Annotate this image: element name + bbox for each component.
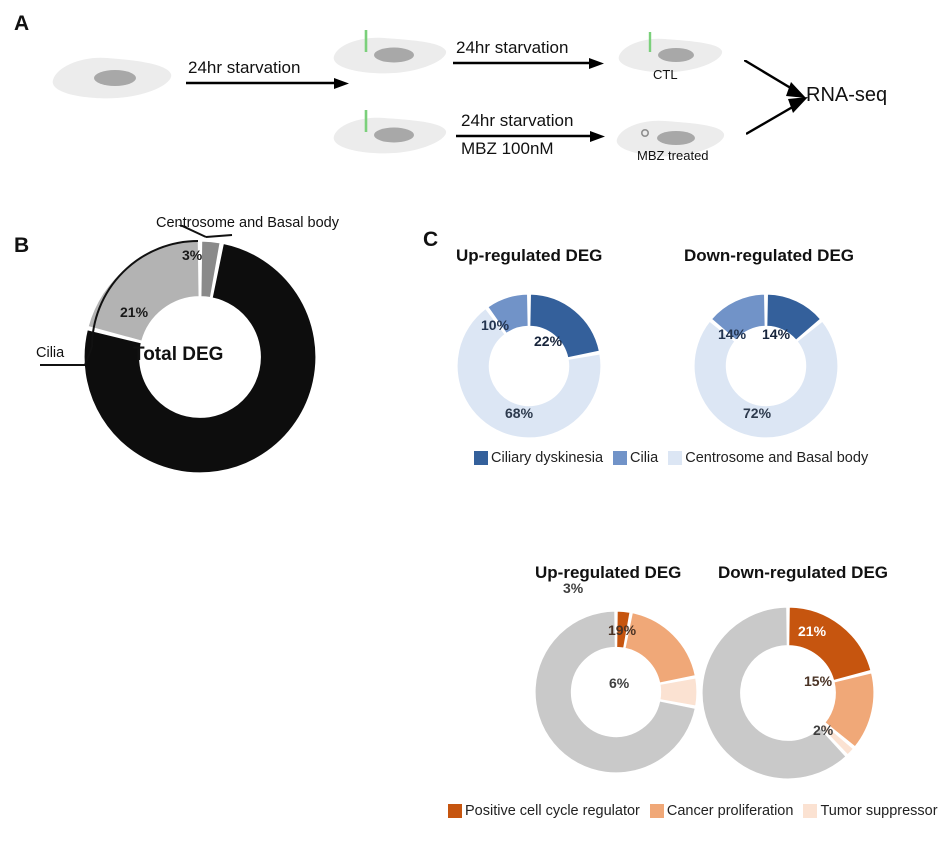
arrow-label-starvation-2: 24hr starvation	[456, 38, 568, 58]
arrow-icon-to-rnaseq-bottom	[746, 96, 812, 138]
cilia-legend: Ciliary dyskinesia Cilia Centrosome and …	[474, 450, 878, 466]
legend-swatch-centrosome	[668, 451, 682, 465]
legend-label-cancer-proliferation: Cancer proliferation	[667, 803, 794, 819]
cancer-down-slices	[702, 607, 874, 779]
donut-b-callout-lines	[20, 225, 410, 495]
cancer-up-pct-poscellcycle: 3%	[563, 580, 583, 596]
cilia-up-pct-dyskinesia: 22%	[534, 333, 562, 349]
cilia-down-pct-cilia: 14%	[718, 326, 746, 342]
arrow-label-mbz-dose: MBZ 100nM	[461, 139, 554, 159]
legend-item-cancer-proliferation: Cancer proliferation	[650, 803, 794, 819]
legend-label-tumor-suppressor: Tumor suppressor	[820, 803, 937, 819]
panel-a-letter: A	[14, 12, 29, 36]
cilia-down-pct-dyskinesia: 14%	[762, 326, 790, 342]
cell-mbz-label: MBZ treated	[637, 148, 709, 163]
legend-swatch-ciliary-dyskinesia	[474, 451, 488, 465]
legend-label-centrosome: Centrosome and Basal body	[685, 450, 868, 466]
donut-slice	[789, 607, 871, 681]
legend-item-tumor-suppressor: Tumor suppressor	[803, 803, 937, 819]
cancer-up-pct-proliferation: 19%	[608, 622, 636, 638]
panel-b: B Total DEG 21% 3% Centrosome and Basal …	[0, 205, 420, 495]
legend-swatch-tumor-suppressor	[803, 804, 817, 818]
panel-a: A 24hr starvation 24hr starvation CTL	[0, 0, 943, 190]
legend-item-positive-cell-cycle-regulator: Positive cell cycle regulator	[448, 803, 640, 819]
chart-title-cancer-up: Up-regulated DEG	[535, 563, 681, 583]
legend-swatch-cancer-proliferation	[650, 804, 664, 818]
cell-bottom-branch	[328, 108, 450, 158]
cell-shape-icon	[45, 50, 175, 102]
legend-swatch-positive-cell-cycle-regulator	[448, 804, 462, 818]
cell-shape-icon	[328, 108, 450, 158]
callout-centrosome-label: Centrosome and Basal body	[156, 215, 339, 231]
cancer-down-pct-poscellcycle: 21%	[798, 623, 826, 639]
chart-title-cancer-down: Down-regulated DEG	[718, 563, 888, 583]
legend-label-positive-cell-cycle-regulator: Positive cell cycle regulator	[465, 803, 640, 819]
cancer-down-donut-chart	[698, 603, 878, 783]
cilia-up-pct-cilia: 10%	[481, 317, 509, 333]
cell-start	[45, 50, 175, 102]
callout-cilia-label: Cilia	[36, 345, 64, 361]
cilia-down-pct-centrosome: 72%	[743, 405, 771, 421]
cancer-up-pct-tumorsuppressor: 6%	[609, 675, 629, 691]
cilia-up-pct-centrosome: 68%	[505, 405, 533, 421]
arrow-label-starvation-1: 24hr starvation	[188, 58, 300, 78]
arrow-icon-1	[186, 78, 350, 92]
arrow-icon-2	[453, 58, 605, 72]
panel-c-letter: C	[423, 228, 438, 252]
cancer-down-pct-proliferation: 15%	[804, 673, 832, 689]
legend-swatch-cilia	[613, 451, 627, 465]
legend-item-centrosome: Centrosome and Basal body	[668, 450, 868, 466]
legend-item-cilia: Cilia	[613, 450, 658, 466]
cell-top-branch	[328, 28, 450, 78]
legend-label-ciliary-dyskinesia: Ciliary dyskinesia	[491, 450, 603, 466]
legend-label-cilia: Cilia	[630, 450, 658, 466]
legend-item-ciliary-dyskinesia: Ciliary dyskinesia	[474, 450, 603, 466]
chart-title-cilia-up: Up-regulated DEG	[456, 246, 602, 266]
cancer-down-pct-tumorsuppressor: 2%	[813, 722, 833, 738]
arrow-label-starvation-3: 24hr starvation	[461, 111, 573, 131]
cell-ctl-label: CTL	[653, 67, 678, 82]
cancer-legend: Positive cell cycle regulator Cancer pro…	[448, 803, 943, 819]
cell-shape-icon	[328, 28, 450, 78]
chart-title-cilia-down: Down-regulated DEG	[684, 246, 854, 266]
panel-c: C Up-regulated DEG Down-regulated DEG 22…	[418, 225, 943, 841]
rna-seq-label: RNA-seq	[806, 84, 887, 107]
